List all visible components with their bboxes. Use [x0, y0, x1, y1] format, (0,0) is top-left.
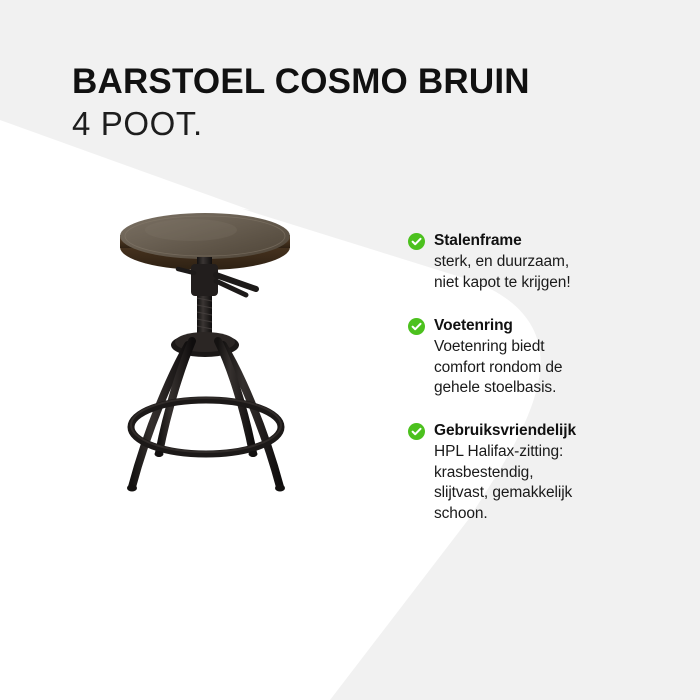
- feature-list: Stalenframe sterk, en duurzaam, niet kap…: [408, 231, 668, 525]
- feature-description: Voetenring biedt comfort rondom de gehel…: [434, 337, 668, 399]
- stool-height-adjust-mechanism: [171, 257, 256, 357]
- feature-item: Stalenframe sterk, en duurzaam, niet kap…: [408, 231, 668, 294]
- feature-item: Voetenring Voetenring biedt comfort rond…: [408, 316, 668, 399]
- feature-heading-row: Gebruiksvriendelijk: [408, 421, 668, 440]
- barstool-photo: [60, 195, 350, 515]
- feature-title: Voetenring: [434, 316, 513, 335]
- page-title: BARSTOEL COSMO BRUIN: [72, 62, 632, 101]
- feature-heading-row: Voetenring: [408, 316, 668, 335]
- feature-item: Gebruiksvriendelijk HPL Halifax-zitting:…: [408, 421, 668, 525]
- feature-description: sterk, en duurzaam, niet kapot te krijge…: [434, 252, 668, 293]
- stool-legs: [132, 341, 280, 487]
- check-circle-icon: [408, 423, 425, 440]
- infographic-canvas: BARSTOEL COSMO BRUIN 4 POOT.: [0, 0, 700, 700]
- feature-heading-row: Stalenframe: [408, 231, 668, 250]
- check-circle-icon: [408, 318, 425, 335]
- feature-description: HPL Halifax-zitting: krasbestendig, slij…: [434, 442, 668, 524]
- check-circle-icon: [408, 233, 425, 250]
- title-block: BARSTOEL COSMO BRUIN 4 POOT.: [72, 62, 632, 143]
- feature-title: Stalenframe: [434, 231, 522, 250]
- feature-title: Gebruiksvriendelijk: [434, 421, 576, 440]
- page-subtitle: 4 POOT.: [72, 105, 632, 143]
